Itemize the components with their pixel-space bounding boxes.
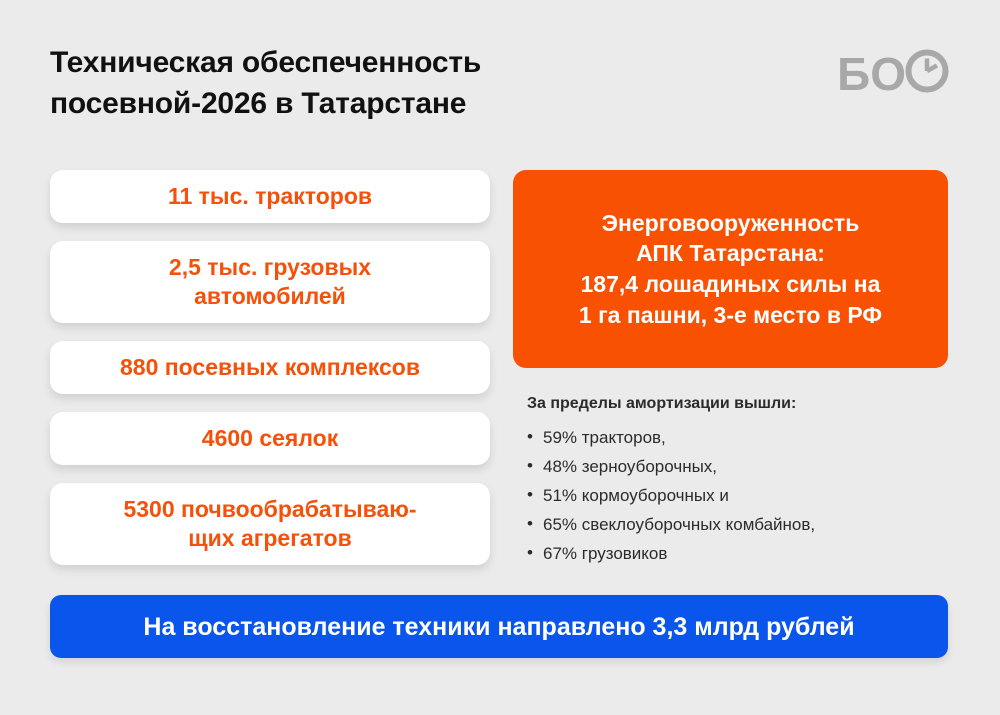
depreciation-heading: За пределы амортизации вышли: (527, 394, 952, 413)
stat-card-text: 11 тыс. тракторов (168, 182, 372, 211)
logo-letters: БО (837, 51, 906, 97)
list-item: 59% тракторов, (527, 429, 952, 446)
stat-card-text: 4600 сеялок (202, 424, 338, 453)
stat-card-text: 5300 почвообрабатываю- щих агрегатов (123, 495, 416, 553)
stat-card-list: 11 тыс. тракторов 2,5 тыс. грузовых авто… (50, 170, 490, 583)
funding-banner: На восстановление техники направлено 3,3… (50, 595, 948, 658)
list-item: 67% грузовиков (527, 545, 952, 562)
clock-icon (904, 48, 950, 99)
stat-card-seeders: 4600 сеялок (50, 412, 490, 465)
business-online-logo: БО (837, 48, 950, 99)
stat-card-text: 880 посевных комплексов (120, 353, 420, 382)
energy-availability-text: Энерговооруженность АПК Татарстана: 187,… (579, 208, 882, 330)
stat-card-seeding-complexes: 880 посевных комплексов (50, 341, 490, 394)
header: Техническая обеспеченность посевной-2026… (50, 42, 950, 138)
page-title: Техническая обеспеченность посевной-2026… (50, 42, 670, 125)
stat-card-tractors: 11 тыс. тракторов (50, 170, 490, 223)
list-item: 65% свеклоуборочных комбайнов, (527, 516, 952, 533)
infographic-root: Техническая обеспеченность посевной-2026… (0, 0, 1000, 715)
stat-card-text: 2,5 тыс. грузовых автомобилей (169, 253, 371, 311)
depreciation-list: 59% тракторов, 48% зерноуборочных, 51% к… (527, 429, 952, 562)
list-item: 48% зерноуборочных, (527, 458, 952, 475)
list-item: 51% кормоуборочных и (527, 487, 952, 504)
depreciation-block: За пределы амортизации вышли: 59% тракто… (527, 394, 952, 574)
stat-card-tillage-units: 5300 почвообрабатываю- щих агрегатов (50, 483, 490, 565)
funding-banner-text: На восстановление техники направлено 3,3… (143, 612, 854, 642)
stat-card-trucks: 2,5 тыс. грузовых автомобилей (50, 241, 490, 323)
energy-availability-panel: Энерговооруженность АПК Татарстана: 187,… (513, 170, 948, 368)
